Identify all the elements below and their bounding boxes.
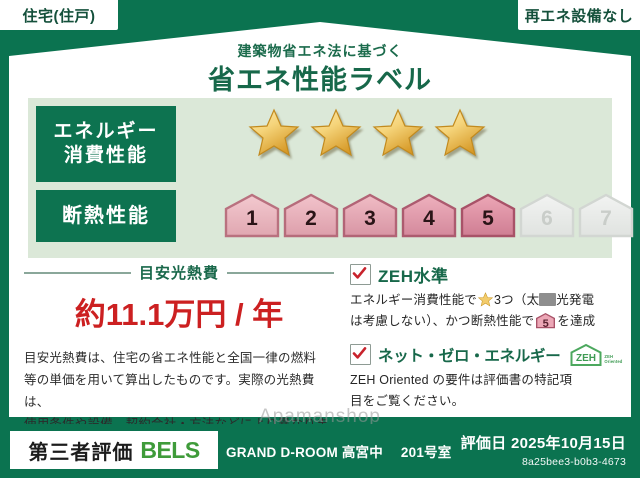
category-energy-line1: エネルギー [53, 120, 158, 144]
zeh-standard-head: ZEH水準 [350, 262, 618, 287]
evaluation-info: 評価日 2025年10月15日 8a25bee3-b0b3-4673 [461, 432, 626, 468]
zeh-text-b: 3つ（太 [494, 293, 539, 307]
svg-text:ZEH: ZEH [576, 353, 596, 364]
zeh-logo-sub-line2: Oriented [604, 359, 622, 364]
zeh-text-e: を達成 [557, 314, 595, 328]
category-energy-consumption: エネルギー 消費性能 [36, 106, 176, 182]
zeh-logo-icon: ZEH [569, 343, 603, 367]
grade-value-7: 7 [600, 207, 612, 238]
redaction-block [539, 293, 556, 306]
grade-house-3: 3 [342, 192, 398, 238]
badge-renewable-equipment: 再エネ設備なし [518, 0, 640, 30]
zeh-netzero-head: ネット・ゼロ・エネルギー ZEH ZEH Oriented [350, 343, 618, 367]
zeh-column: ZEH水準 エネルギー消費性能で3つ（太光発電 は考慮しない）、かつ断熱性能で5… [350, 262, 618, 422]
zeh-text-c: 光発電 [556, 293, 594, 307]
cost-value: 約11.1万円 / 年 [24, 289, 334, 334]
rule-right [227, 272, 334, 274]
category-insulation-label: 断熱性能 [62, 204, 150, 229]
grade-value-2: 2 [305, 207, 317, 238]
energy-star-rating [248, 108, 486, 158]
grade-badge-inline: 5 [536, 312, 555, 329]
zeh-logo-sub-line1: ZEH [604, 354, 613, 359]
grade-value-5: 5 [482, 207, 494, 238]
grade-house-7: 7 [578, 192, 634, 238]
grade-value-4: 4 [423, 207, 435, 238]
grade-value-6: 6 [541, 207, 553, 238]
badge-housing-type: 住宅(住戸) [0, 0, 118, 30]
performance-panel: エネルギー 消費性能 断熱性能 [28, 98, 612, 258]
building-info: GRAND D-ROOM 高宮中 201号室 [226, 441, 451, 461]
check-icon [352, 266, 367, 281]
evaluation-date: 評価日 2025年10月15日 [461, 432, 626, 453]
energy-performance-label: 住宅(住戸) 再エネ設備なし 建築物省エネ法に基づく 省エネ性能ラベル エネルギ… [0, 0, 640, 478]
checkbox-zeh-netzero[interactable] [350, 344, 371, 365]
grade-value-3: 3 [364, 207, 376, 238]
star-icon-filled [372, 108, 424, 158]
building-name: GRAND D-ROOM 高宮中 [226, 445, 383, 460]
rule-left [24, 272, 131, 274]
zeh-netzero-block: ネット・ゼロ・エネルギー ZEH ZEH Oriented ZEH Orient… [350, 343, 618, 413]
zeh-house-logo: ZEH ZEH Oriented [569, 343, 622, 367]
star-icon-filled [434, 108, 486, 158]
star-icon-inline [478, 292, 493, 307]
bels-jp-label: 第三者評価 [28, 436, 133, 465]
star-icon-filled [248, 108, 300, 158]
grade-house-1: 1 [224, 192, 280, 238]
star-icon-filled [310, 108, 362, 158]
category-energy-line2: 消費性能 [64, 144, 148, 168]
zeh-standard-text: エネルギー消費性能で3つ（太光発電 は考慮しない）、かつ断熱性能で5を達成 [350, 290, 618, 333]
zeh-logo-sub: ZEH Oriented [604, 354, 622, 367]
zeh-text-d: は考慮しない）、かつ断熱性能で [350, 314, 534, 328]
bels-logo: 第三者評価 BELS [10, 431, 218, 469]
insulation-grade-scale: 1 2 3 4 [224, 192, 634, 238]
label-title: 省エネ性能ラベル [0, 58, 640, 97]
category-insulation: 断熱性能 [36, 190, 176, 242]
check-icon [352, 346, 367, 361]
zeh-netzero-line2: 目をご覧ください。 [350, 391, 618, 412]
grade-value-1: 1 [246, 207, 258, 238]
cost-note-line1: 目安光熱費は、住宅の省エネ性能と全国一律の燃料 [24, 348, 334, 370]
grade-badge-value: 5 [536, 315, 555, 334]
grade-house-5: 5 [460, 192, 516, 238]
grade-house-2: 2 [283, 192, 339, 238]
footer-bar: 第三者評価 BELS GRAND D-ROOM 高宮中 201号室 評価日 20… [0, 424, 640, 478]
cost-note-line2: 等の単価を用いて算出したものです。実際の光熱費は、 [24, 370, 334, 414]
grade-house-6: 6 [519, 192, 575, 238]
zeh-standard-title: ZEH水準 [378, 262, 449, 287]
zeh-netzero-title: ネット・ゼロ・エネルギー [378, 344, 560, 366]
evaluation-id: 8a25bee3-b0b3-4673 [461, 456, 626, 468]
zeh-text-a: エネルギー消費性能で [350, 293, 477, 307]
bels-en-label: BELS [140, 437, 199, 464]
zeh-netzero-text: ZEH Oriented の要件は評価書の特記項 目をご覧ください。 [350, 370, 618, 413]
room-number: 201号室 [401, 445, 452, 460]
zeh-netzero-line1: ZEH Oriented の要件は評価書の特記項 [350, 370, 618, 391]
grade-house-4: 4 [401, 192, 457, 238]
cost-heading: 目安光熱費 [139, 262, 219, 283]
checkbox-zeh-standard[interactable] [350, 264, 371, 285]
cost-heading-row: 目安光熱費 [24, 262, 334, 283]
zeh-standard-block: ZEH水準 エネルギー消費性能で3つ（太光発電 は考慮しない）、かつ断熱性能で5… [350, 262, 618, 333]
